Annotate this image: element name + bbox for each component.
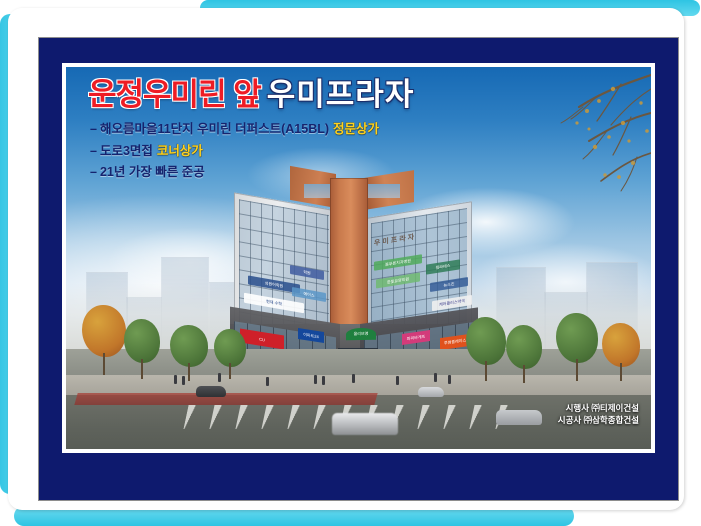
bullet-dash: – (90, 122, 97, 136)
street-tree (170, 325, 208, 367)
poster-credits: 시행사 ㈜티제이건설 시공사 ㈜삼학종합건설 (558, 402, 639, 428)
credit-builder: 시공사 ㈜삼학종합건설 (558, 414, 639, 427)
screenshot-root: 우미프라자 성원어학원 현재 수학 학원 에이스 봄푸른치과병원 한빛요양의원 … (0, 0, 701, 526)
street-tree (466, 317, 506, 365)
pedestrian (448, 375, 451, 384)
street-tree (124, 319, 160, 363)
pedestrian (266, 377, 269, 386)
tree-branches (471, 67, 651, 207)
bullet-item: –도로3면접코너상가 (90, 141, 379, 163)
tree-trunk (485, 361, 487, 381)
pedestrian (218, 373, 221, 382)
tree-trunk (620, 363, 622, 381)
car (196, 386, 226, 397)
bullet-highlight: 코너상가 (157, 144, 203, 158)
bullet-item: –해오름마을11단지 우미린 더퍼스트(A15BL)정문상가 (90, 119, 379, 141)
headline-secondary: 우미프라자 (267, 77, 415, 112)
street-tree (214, 329, 246, 367)
car (418, 387, 444, 397)
bullet-text: 도로3면접 (100, 144, 153, 158)
advertisement-poster: 우미프라자 성원어학원 현재 수학 학원 에이스 봄푸른치과병원 한빛요양의원 … (66, 67, 651, 449)
bullet-item: –21년 가장 빠른 준공 (90, 162, 379, 184)
headline-primary: 운정우미린 앞 (88, 77, 261, 112)
street-tree (506, 325, 542, 369)
street-tree (82, 305, 126, 357)
pedestrian (396, 376, 399, 385)
branch-svg (471, 67, 651, 207)
tree-trunk (188, 363, 190, 381)
bullet-text: 21년 가장 빠른 준공 (100, 165, 205, 179)
car (496, 410, 542, 425)
tree-trunk (141, 359, 143, 379)
navy-frame: 우미프라자 성원어학원 현재 수학 학원 에이스 봄푸른치과병원 한빛요양의원 … (38, 37, 679, 501)
street-tree (556, 313, 598, 363)
white-mat: 우미프라자 성원어학원 현재 수학 학원 에이스 봄푸른치과병원 한빛요양의원 … (62, 63, 655, 453)
bullet-highlight: 정문상가 (333, 122, 379, 136)
pedestrian (314, 375, 317, 384)
pedestrian (174, 375, 177, 384)
bullet-dash: – (90, 165, 97, 179)
credit-developer: 시행사 ㈜티제이건설 (558, 402, 639, 415)
pedestrian (182, 376, 185, 385)
tree-trunk (103, 353, 105, 375)
bullet-text: 해오름마을11단지 우미린 더퍼스트(A15BL) (100, 122, 329, 136)
tree-trunk (523, 365, 525, 383)
retail-banner: 올리브영 (346, 328, 376, 341)
white-card: 우미프라자 성원어학원 현재 수학 학원 에이스 봄푸른치과병원 한빛요양의원 … (8, 8, 684, 510)
pedestrian (352, 374, 355, 383)
poster-headline: 운정우미린 앞우미프라자 (88, 79, 414, 110)
red-bike-path (74, 393, 377, 405)
bullet-dash: – (90, 144, 97, 158)
car (332, 413, 398, 435)
tree-trunk (576, 359, 578, 381)
pedestrian (322, 376, 325, 385)
poster-bullet-list: –해오름마을11단지 우미린 더퍼스트(A15BL)정문상가 –도로3면접코너상… (90, 119, 379, 184)
pedestrian (434, 373, 437, 382)
street-tree (602, 323, 640, 367)
tree-trunk (229, 363, 231, 379)
